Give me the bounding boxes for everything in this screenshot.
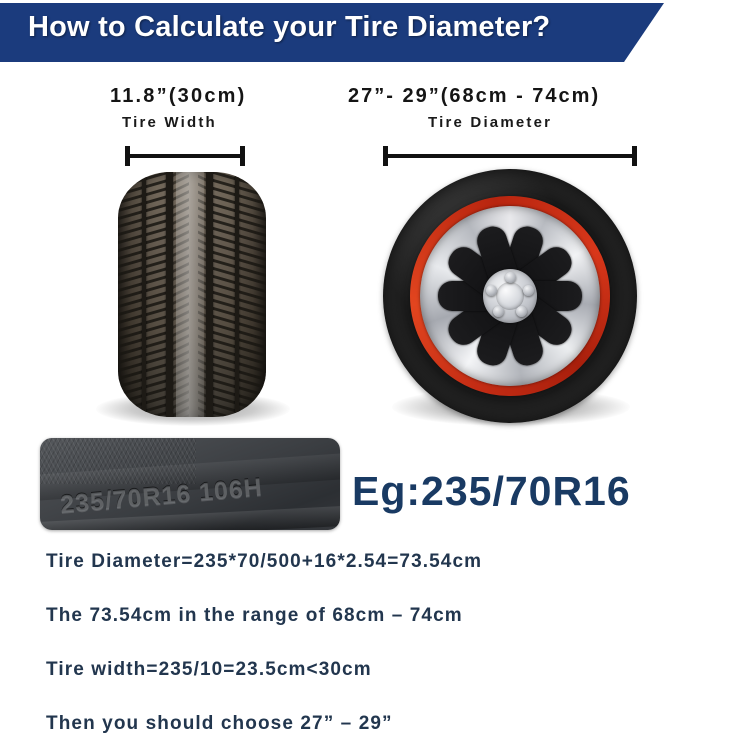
dimension-line <box>383 154 637 158</box>
tire-width-value: 11.8”(30cm) <box>110 85 247 108</box>
formula-line-range: The 73.54cm in the range of 68cm – 74cm <box>46 605 463 627</box>
tire-width-label: Tire Width <box>122 114 217 131</box>
tire-diameter-dimension-bar <box>383 146 637 166</box>
formula-line-width: Tire width=235/10=23.5cm<30cm <box>46 659 372 681</box>
wheel-lug-nut <box>523 285 534 296</box>
wheel-lug-nut <box>516 306 527 317</box>
tire-width-dimension-bar <box>125 146 245 166</box>
tread-groove <box>206 172 213 417</box>
formula-line-recommendation: Then you should choose 27” – 29” <box>46 713 393 735</box>
example-tire-code: Eg:235/70R16 <box>352 468 631 515</box>
dimension-cap-right <box>632 146 637 166</box>
tread-groove <box>166 172 173 417</box>
wheel-lug-nut <box>505 272 516 283</box>
page-title: How to Calculate your Tire Diameter? <box>28 11 550 44</box>
wheel-lug-nut <box>486 285 497 296</box>
infographic-page: How to Calculate your Tire Diameter? 11.… <box>0 0 750 750</box>
formula-line-diameter: Tire Diameter=235*70/500+16*2.54=73.54cm <box>46 551 482 573</box>
wheel-alloy-rim <box>420 206 600 386</box>
tire-diameter-label: Tire Diameter <box>428 114 552 131</box>
tread-groove <box>235 172 239 417</box>
tire-diameter-value: 27”- 29”(68cm - 74cm) <box>348 85 600 108</box>
tire-tread-image <box>118 172 266 417</box>
tread-center-rib <box>176 172 204 417</box>
wheel-image <box>383 169 637 423</box>
tire-sidewall-image: 235/70R16 106H <box>40 438 340 530</box>
tread-groove <box>142 172 146 417</box>
dimension-line <box>125 154 245 158</box>
dimension-cap-right <box>240 146 245 166</box>
